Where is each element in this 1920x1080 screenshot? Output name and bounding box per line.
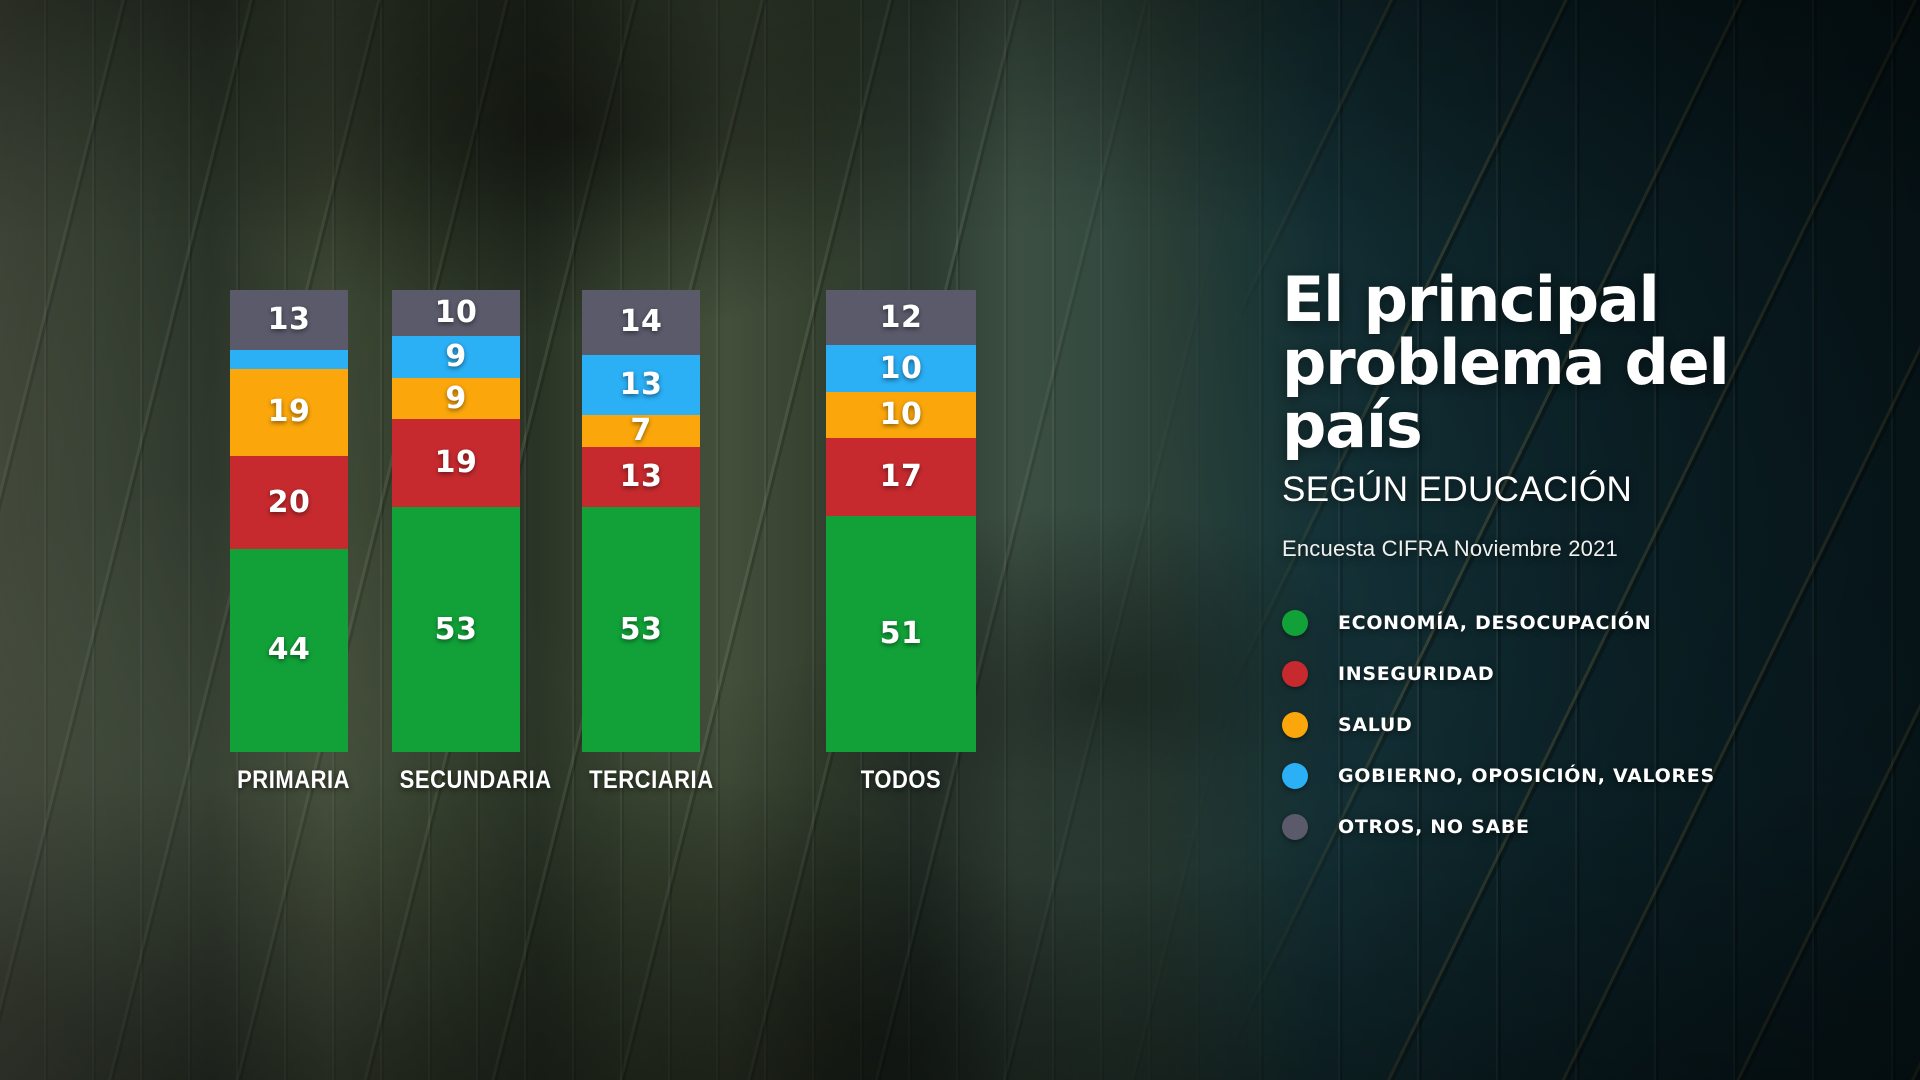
legend-color-swatch-icon (1282, 661, 1308, 687)
bar-stack: 141371353 (582, 290, 700, 752)
legend-item-label: ECONOMÍA, DESOCUPACIÓN (1338, 612, 1651, 634)
legend-item: GOBIERNO, OPOSICIÓN, VALORES (1282, 751, 1882, 802)
bar-segment-economia: 44 (230, 549, 348, 752)
bar-segment-otros: 12 (826, 290, 976, 345)
bar-segment-salud: 19 (230, 369, 348, 457)
legend-item: SALUD (1282, 700, 1882, 751)
bar-stack: 10991953 (392, 290, 520, 752)
chart-subtitle: SEGÚN EDUCACIÓN (1282, 470, 1882, 510)
bar-stack: 13192044 (230, 290, 348, 752)
legend-item: OTROS, NO SABE (1282, 802, 1882, 853)
bar-category-label: SECUNDARIA (400, 766, 513, 795)
bar-segment-salud: 10 (826, 392, 976, 438)
bar-category-label: TODOS (835, 766, 967, 795)
bar-todos: 1210101751TODOS (826, 282, 976, 752)
stacked-bar-chart: 13192044PRIMARIA10991953SECUNDARIA141371… (230, 282, 1130, 752)
legend-color-swatch-icon (1282, 814, 1308, 840)
bar-group: 13192044PRIMARIA10991953SECUNDARIA141371… (230, 282, 1130, 752)
chart-legend: ECONOMÍA, DESOCUPACIÓNINSEGURIDADSALUDGO… (1282, 598, 1882, 853)
bar-stack: 1210101751 (826, 290, 976, 752)
legend-color-swatch-icon (1282, 610, 1308, 636)
bar-terciaria: 141371353TERCIARIA (582, 282, 700, 752)
legend-item-label: SALUD (1338, 714, 1413, 736)
bar-segment-economia: 53 (392, 507, 520, 752)
bar-segment-inseguridad: 19 (392, 419, 520, 507)
legend-item-label: OTROS, NO SABE (1338, 816, 1530, 838)
bar-primaria: 13192044PRIMARIA (230, 282, 348, 752)
bar-segment-gobierno: 13 (582, 355, 700, 415)
chart-title: El principal problema del país (1282, 268, 1882, 458)
bar-segment-gobierno (230, 350, 348, 368)
chart-source: Encuesta CIFRA Noviembre 2021 (1282, 536, 1882, 562)
bar-segment-otros: 13 (230, 290, 348, 350)
bar-segment-inseguridad: 13 (582, 447, 700, 507)
bar-category-label: PRIMARIA (237, 766, 341, 795)
bar-segment-economia: 51 (826, 516, 976, 752)
bar-segment-otros: 10 (392, 290, 520, 336)
legend-color-swatch-icon (1282, 763, 1308, 789)
bar-segment-economia: 53 (582, 507, 700, 752)
bar-segment-gobierno: 10 (826, 345, 976, 391)
bar-segment-gobierno: 9 (392, 336, 520, 378)
legend-item-label: GOBIERNO, OPOSICIÓN, VALORES (1338, 765, 1715, 787)
info-panel: El principal problema del país SEGÚN EDU… (1282, 268, 1882, 853)
bar-segment-salud: 7 (582, 415, 700, 447)
bar-segment-inseguridad: 20 (230, 456, 348, 548)
bar-segment-otros: 14 (582, 290, 700, 355)
bar-secundaria: 10991953SECUNDARIA (392, 282, 520, 752)
legend-item: ECONOMÍA, DESOCUPACIÓN (1282, 598, 1882, 649)
chart-title-line-1: El principal (1282, 268, 1882, 331)
bar-segment-inseguridad: 17 (826, 438, 976, 517)
legend-item-label: INSEGURIDAD (1338, 663, 1494, 685)
bar-segment-salud: 9 (392, 378, 520, 420)
legend-color-swatch-icon (1282, 712, 1308, 738)
bar-category-label: TERCIARIA (589, 766, 693, 795)
legend-item: INSEGURIDAD (1282, 649, 1882, 700)
chart-title-line-2: problema del país (1282, 331, 1882, 457)
